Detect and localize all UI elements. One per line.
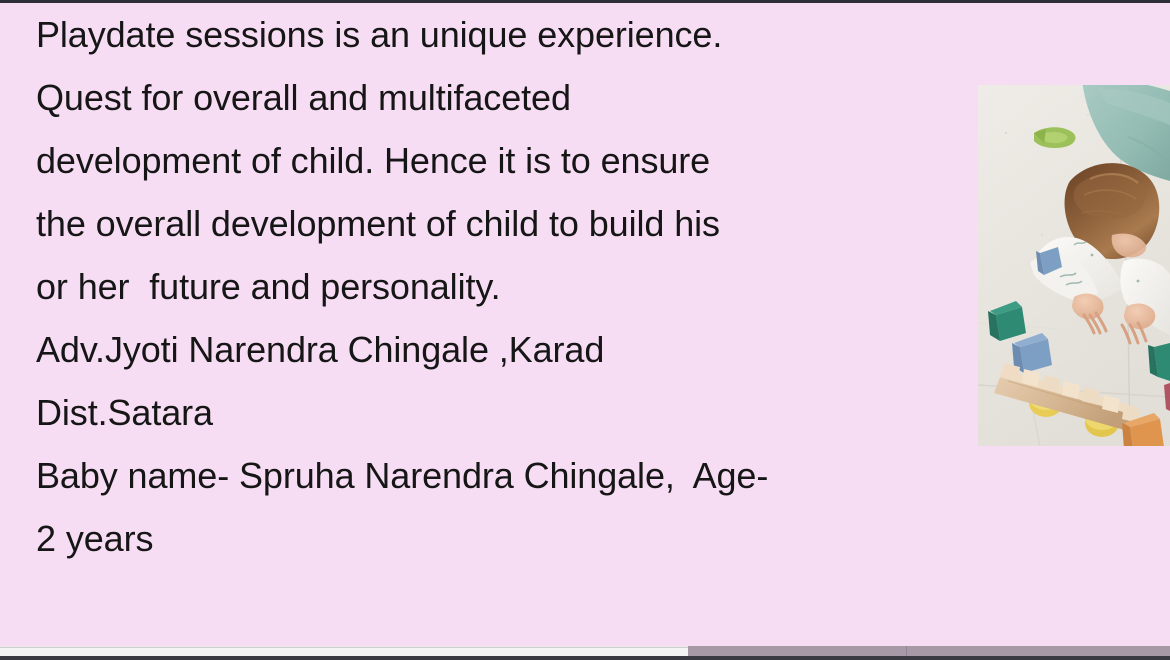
top-edge-rule	[0, 0, 1170, 3]
child-playing-with-wooden-blocks-photo[interactable]	[978, 85, 1170, 446]
photo-artwork	[978, 85, 1170, 446]
slide-canvas: Playdate sessions is an unique experienc…	[0, 3, 1170, 646]
slide-viewport: Playdate sessions is an unique experienc…	[0, 0, 1170, 660]
slide-text-line-4: the overall development of child to buil…	[36, 192, 996, 255]
slide-text-line-1: Playdate sessions is an unique experienc…	[36, 3, 996, 66]
bottom-edge-rule	[0, 656, 1170, 660]
slide-text-line-6: Adv.Jyoti Narendra Chingale ,Karad	[36, 318, 996, 381]
slide-text-line-3: development of child. Hence it is to ens…	[36, 129, 996, 192]
slide-text-line-5: or her future and personality.	[36, 255, 996, 318]
slide-text-line-7: Dist.Satara	[36, 381, 996, 444]
slide-text-line-2: Quest for overall and multifaceted	[36, 66, 996, 129]
slide-text-block[interactable]: Playdate sessions is an unique experienc…	[36, 3, 996, 570]
slide-text-line-9: 2 years	[36, 507, 996, 570]
slide-text-line-8: Baby name- Spruha Narendra Chingale, Age…	[36, 444, 996, 507]
